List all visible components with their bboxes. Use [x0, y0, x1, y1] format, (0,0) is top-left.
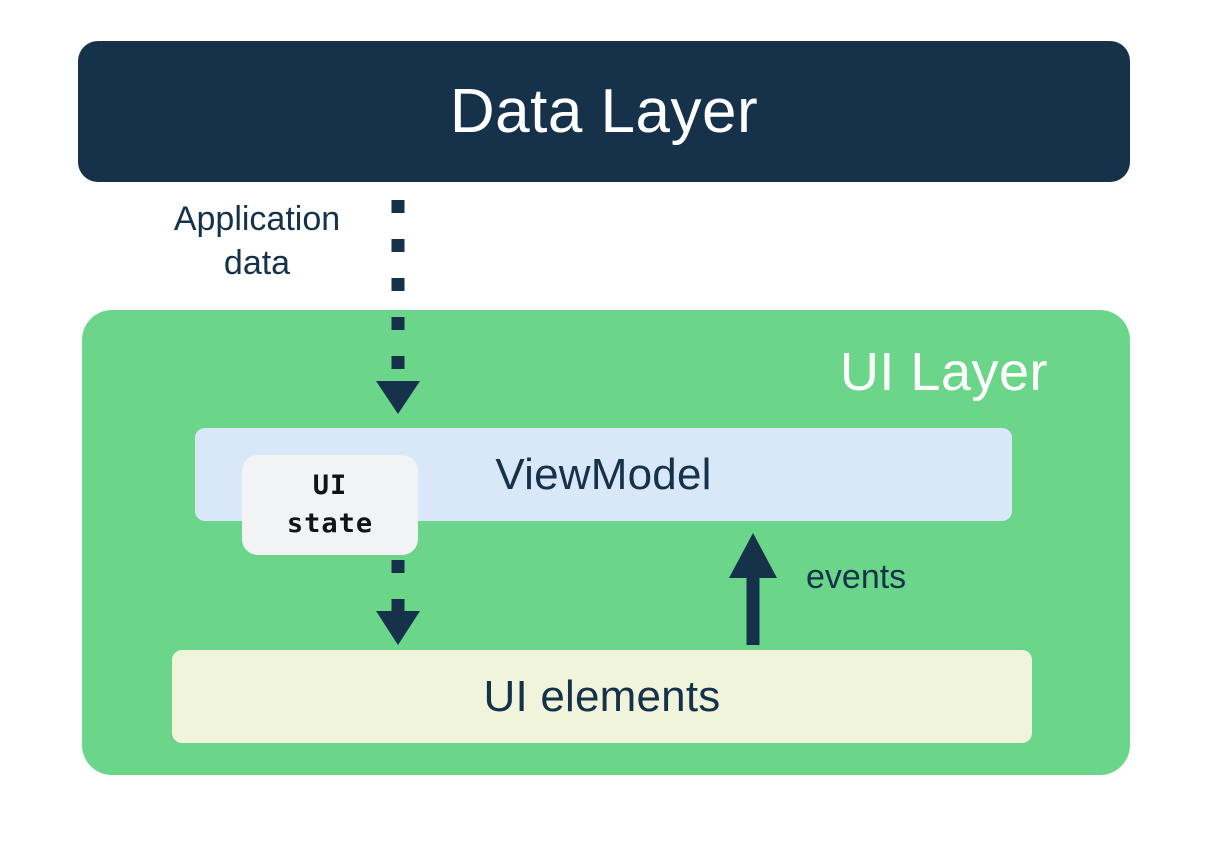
diagram-canvas: Data Layer UI Layer Application data eve… [0, 0, 1218, 852]
viewmodel-label: ViewModel [495, 453, 711, 497]
ui-state-line-2: state [287, 505, 373, 543]
ui-layer-title: UI Layer [840, 345, 1048, 399]
events-label: events [806, 560, 906, 594]
ui-elements-label: UI elements [484, 675, 721, 719]
ui-elements-box: UI elements [172, 650, 1032, 743]
ui-state-line-1: UI [313, 467, 348, 505]
application-data-label: Application data [142, 198, 372, 285]
data-layer-box: Data Layer [78, 41, 1130, 182]
data-layer-title: Data Layer [450, 81, 758, 143]
ui-state-badge: UI state [242, 455, 418, 555]
